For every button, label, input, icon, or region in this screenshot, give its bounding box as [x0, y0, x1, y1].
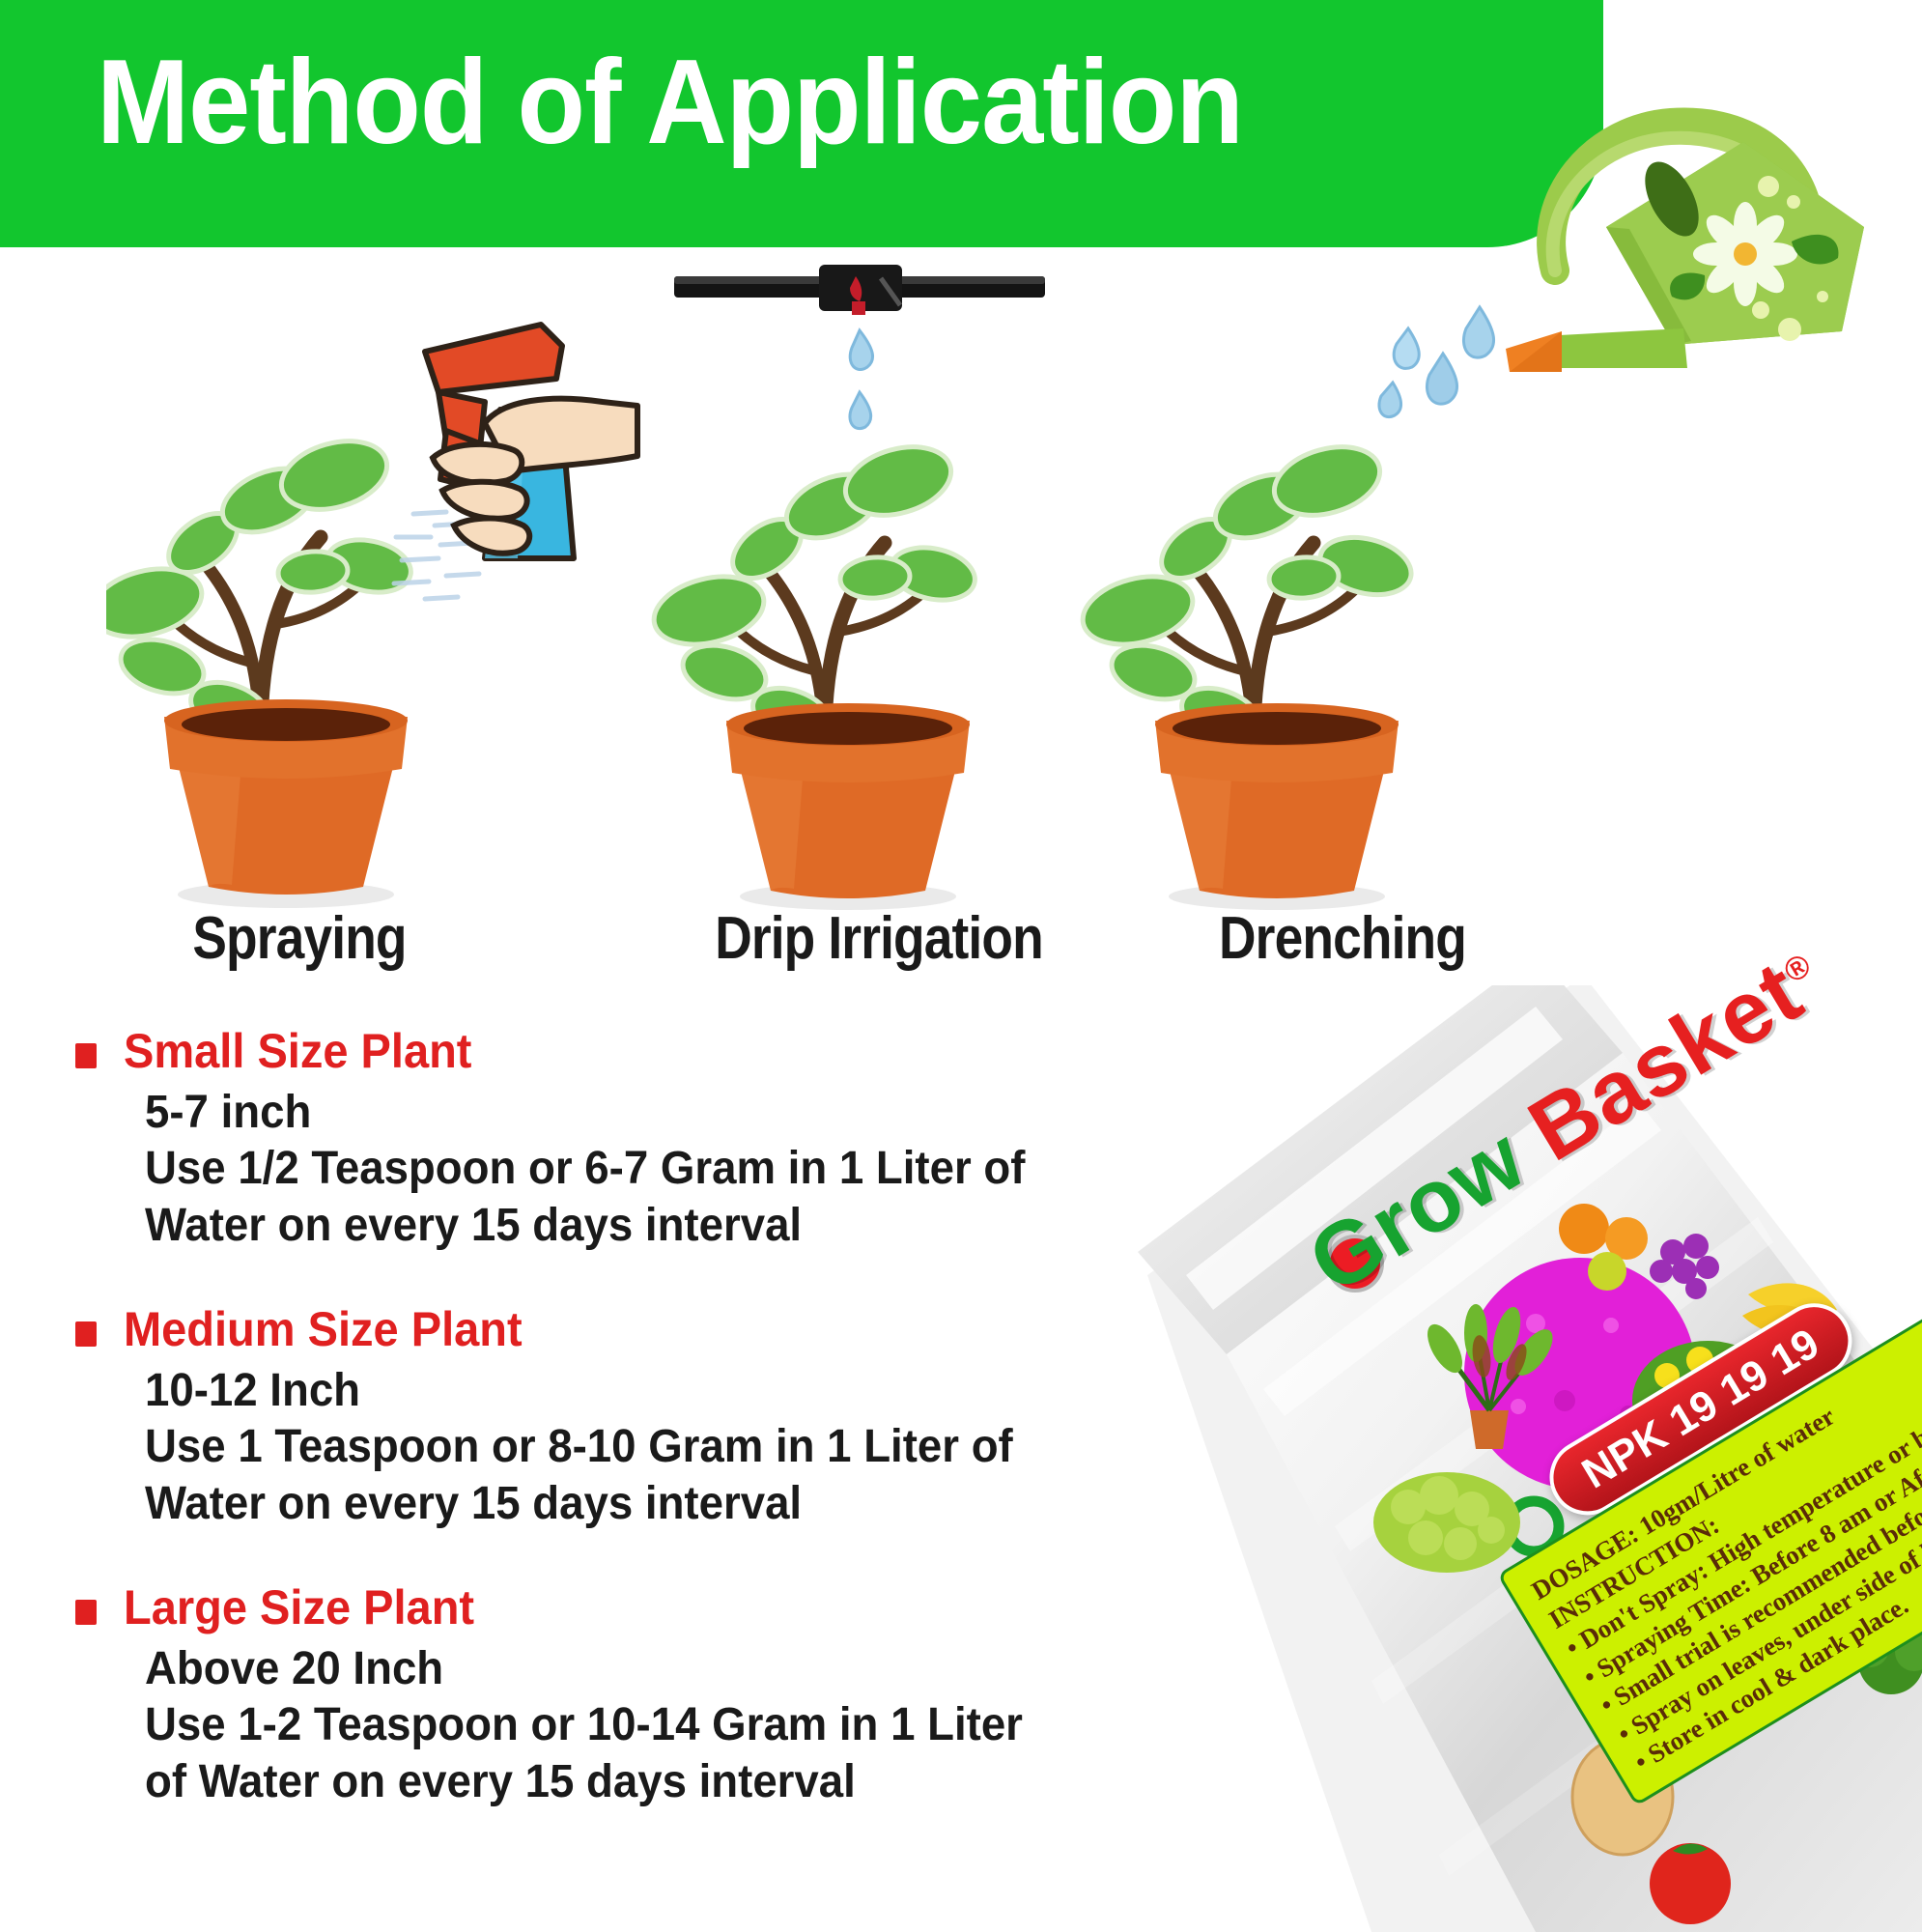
- instruction-heading: INSTRUCTION:: [1542, 1299, 1922, 1636]
- method-label-drenching: Drenching: [1144, 904, 1542, 973]
- dosage-size-small: 5-7 inch: [145, 1085, 1116, 1142]
- method-column-drenching: Drenching: [1053, 247, 1516, 1010]
- instruction-line-4: • Spray on leaves, under side of leaves.: [1611, 1413, 1922, 1750]
- bullet-square-icon: [75, 1600, 97, 1625]
- drenching-illustration: [1053, 247, 1516, 914]
- page-header-banner: Method of Application: [0, 0, 1603, 247]
- dosage-title-small: Small Size Plant: [124, 1026, 471, 1077]
- method-column-spraying: Spraying: [106, 247, 570, 1010]
- brand-grow-text: Grow: [1293, 1095, 1564, 1312]
- dosage-line2-small: Water on every 15 days interval: [145, 1198, 1116, 1255]
- methods-row: Spraying: [0, 247, 1922, 1010]
- instruction-line-3: • Small trial is recommended before use.: [1595, 1385, 1922, 1722]
- method-column-drip-irrigation: Drip Irrigation: [628, 247, 1091, 1010]
- dosage-line1-small: Use 1/2 Teaspoon or 6-7 Gram in 1 Liter …: [145, 1141, 1116, 1198]
- dosage-line2-medium: Water on every 15 days interval: [145, 1476, 1116, 1533]
- instruction-dosage: DOSAGE: 10gm/Litre of water: [1526, 1270, 1922, 1607]
- instruction-line-2: • Spraying Time: Before 8 am or After 4 …: [1577, 1356, 1922, 1693]
- dosage-list: Small Size Plant 5-7 inch Use 1/2 Teaspo…: [75, 1026, 1167, 1861]
- method-label-spraying: Spraying: [100, 904, 499, 973]
- instruction-line-5: • Store in cool & dark place.: [1628, 1442, 1922, 1779]
- dosage-title-medium: Medium Size Plant: [124, 1304, 523, 1355]
- instruction-line-1: • Don't Spray: High temperature or befor…: [1560, 1327, 1922, 1664]
- product-packet: Grow Basket® NPK 19 19 19 100% Water Sol…: [1082, 985, 1922, 1932]
- dosage-size-medium: 10-12 Inch: [145, 1363, 1116, 1420]
- dosage-title-large: Large Size Plant: [124, 1582, 474, 1634]
- bullet-square-icon: [75, 1321, 97, 1347]
- dosage-line2-large: of Water on every 15 days interval: [145, 1754, 1116, 1811]
- instruction-panel: DOSAGE: 10gm/Litre of water INSTRUCTION:…: [1497, 1243, 1922, 1806]
- water-drops-icon: [1379, 307, 1494, 417]
- drip-pipe-icon: [674, 265, 1045, 315]
- water-soluble-text: 100% Water Soluble: [1584, 1384, 1861, 1571]
- bullet-square-icon: [75, 1043, 97, 1068]
- method-label-drip-irrigation: Drip Irrigation: [680, 904, 1079, 973]
- dosage-size-large: Above 20 Inch: [145, 1641, 1116, 1698]
- spray-bottle-icon: [396, 286, 647, 566]
- npk-grade-badge: NPK 19 19 19: [1536, 1289, 1866, 1528]
- page-title: Method of Application: [97, 43, 1243, 162]
- dosage-item-large: Large Size Plant Above 20 Inch Use 1-2 T…: [75, 1582, 1167, 1810]
- dosage-line1-large: Use 1-2 Teaspoon or 10-14 Gram in 1 Lite…: [145, 1697, 1116, 1754]
- dosage-line1-medium: Use 1 Teaspoon or 8-10 Gram in 1 Liter o…: [145, 1419, 1116, 1476]
- drip-irrigation-illustration: [628, 247, 1091, 914]
- dosage-item-small: Small Size Plant 5-7 inch Use 1/2 Teaspo…: [75, 1026, 1167, 1254]
- dosage-item-medium: Medium Size Plant 10-12 Inch Use 1 Teasp…: [75, 1304, 1167, 1532]
